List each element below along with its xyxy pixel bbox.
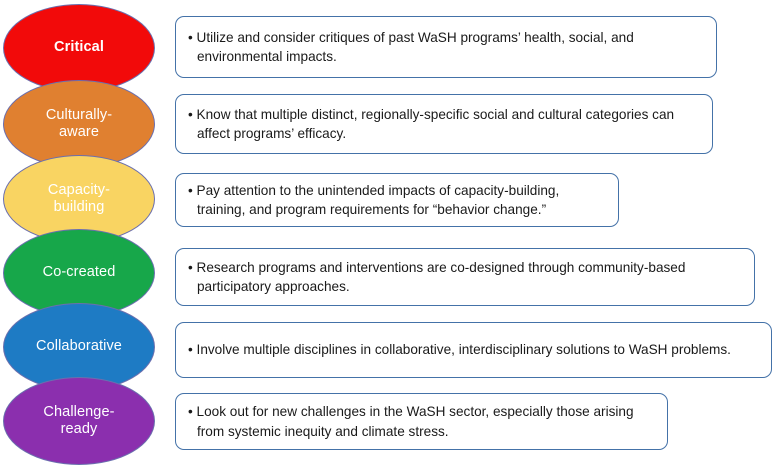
ellipse-label-co-created: Co-created — [37, 264, 122, 281]
callout-text-collaborative: • Involve multiple disciplines in collab… — [176, 340, 741, 359]
callout-text-co-created: • Research programs and interventions ar… — [176, 258, 754, 297]
callout-capacity-building[interactable]: • Pay attention to the unintended impact… — [175, 173, 619, 227]
ellipse-label-challenge-ready: Challenge-ready — [37, 404, 120, 438]
ellipse-label-critical: Critical — [48, 39, 110, 56]
ellipse-label-culturally-aware: Culturally-aware — [40, 107, 118, 141]
diagram-canvas: Critical Culturally-aware Capacity-build… — [0, 0, 777, 468]
ellipse-critical[interactable]: Critical — [3, 4, 155, 92]
callout-text-critical: • Utilize and consider critiques of past… — [176, 28, 716, 67]
ellipse-label-capacity-building: Capacity-building — [42, 182, 116, 216]
callout-challenge-ready[interactable]: • Look out for new challenges in the WaS… — [175, 393, 668, 450]
ellipse-label-collaborative: Collaborative — [30, 338, 128, 355]
callout-text-capacity-building: • Pay attention to the unintended impact… — [176, 181, 618, 220]
callout-collaborative[interactable]: • Involve multiple disciplines in collab… — [175, 322, 772, 378]
callout-text-culturally-aware: • Know that multiple distinct, regionall… — [176, 105, 712, 144]
callout-co-created[interactable]: • Research programs and interventions ar… — [175, 248, 755, 306]
callout-culturally-aware[interactable]: • Know that multiple distinct, regionall… — [175, 94, 713, 154]
ellipse-challenge-ready[interactable]: Challenge-ready — [3, 377, 155, 465]
callout-critical[interactable]: • Utilize and consider critiques of past… — [175, 16, 717, 78]
callout-text-challenge-ready: • Look out for new challenges in the WaS… — [176, 402, 667, 441]
